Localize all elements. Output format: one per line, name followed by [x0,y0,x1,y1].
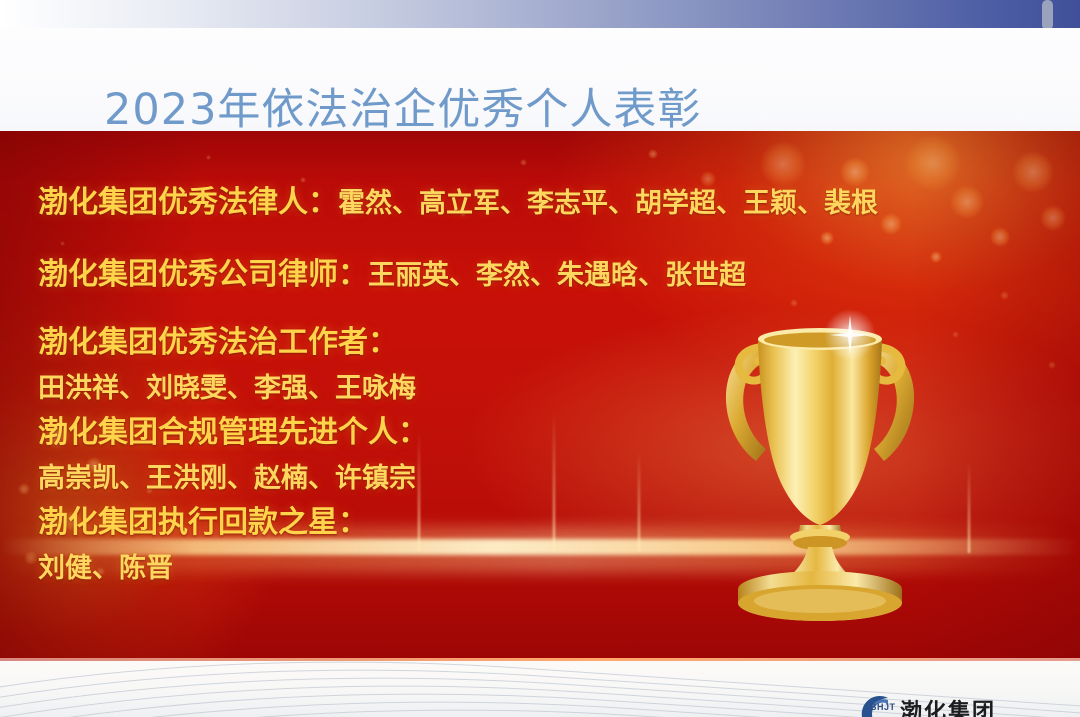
bokeh-dot [1048,361,1056,369]
bokeh-dot [1012,151,1054,193]
bokeh-dot [820,231,834,245]
trophy-icon [700,309,940,629]
logo-company-name: 渤化集团 [900,694,996,717]
bokeh-dot [1000,291,1009,300]
bokeh-dot [1040,205,1066,231]
bokeh-dot [880,213,902,235]
award-row: 渤化集团优秀公司律师：王丽英、李然、朱遇晗、张世超 [38,249,746,293]
logo-latin-text: BHJT [870,702,896,712]
award-names: 田洪祥、刘晓雯、李强、王咏梅 [38,366,416,405]
bokeh-dot [950,185,984,219]
award-label: 渤化集团优秀法治工作者： [38,325,398,360]
award-label: 渤化集团执行回款之星： [38,505,368,540]
award-label: 渤化集团优秀法律人： [38,185,338,220]
award-row: 渤化集团合规管理先进个人： 高崇凯、王洪刚、赵楠、许镇宗 [38,407,428,495]
top-blue-bar [0,0,1080,28]
title-zone: 2023年依法治企优秀个人表彰 [0,28,1080,131]
red-stage-background: 渤化集团优秀法律人：霍然、高立军、李志平、胡学超、王颖、裴根 渤化集团优秀公司律… [0,131,1080,658]
light-streak [968,461,970,553]
award-names: 王丽英、李然、朱遇晗、张世超 [368,260,746,291]
award-label: 渤化集团合规管理先进个人： [38,415,428,450]
award-names: 刘健、陈晋 [38,546,368,585]
bokeh-dot [930,251,942,263]
scroll-handle[interactable] [1042,0,1053,30]
bokeh-dot [905,135,961,191]
award-row: 渤化集团优秀法律人：霍然、高立军、李志平、胡学超、王颖、裴根 [38,177,878,221]
award-label: 渤化集团优秀公司律师： [38,257,368,292]
company-logo: BHJT 渤化集团 [848,692,1080,717]
bokeh-dot [790,299,798,307]
award-row: 渤化集团执行回款之星： 刘健、陈晋 [38,497,368,585]
award-row: 渤化集团优秀法治工作者： 田洪祥、刘晓雯、李强、王咏梅 [38,317,416,405]
award-list: 渤化集团优秀法律人：霍然、高立军、李志平、胡学超、王颖、裴根 渤化集团优秀公司律… [0,131,700,658]
award-names: 高崇凯、王洪刚、赵楠、许镇宗 [38,456,428,495]
bokeh-dot [952,331,959,338]
bokeh-dot [990,227,1010,247]
page-title: 2023年依法治企优秀个人表彰 [104,85,701,135]
award-names: 霍然、高立军、李志平、胡学超、王颖、裴根 [338,188,878,219]
presentation-slide: 2023年依法治企优秀个人表彰 [0,0,1080,717]
